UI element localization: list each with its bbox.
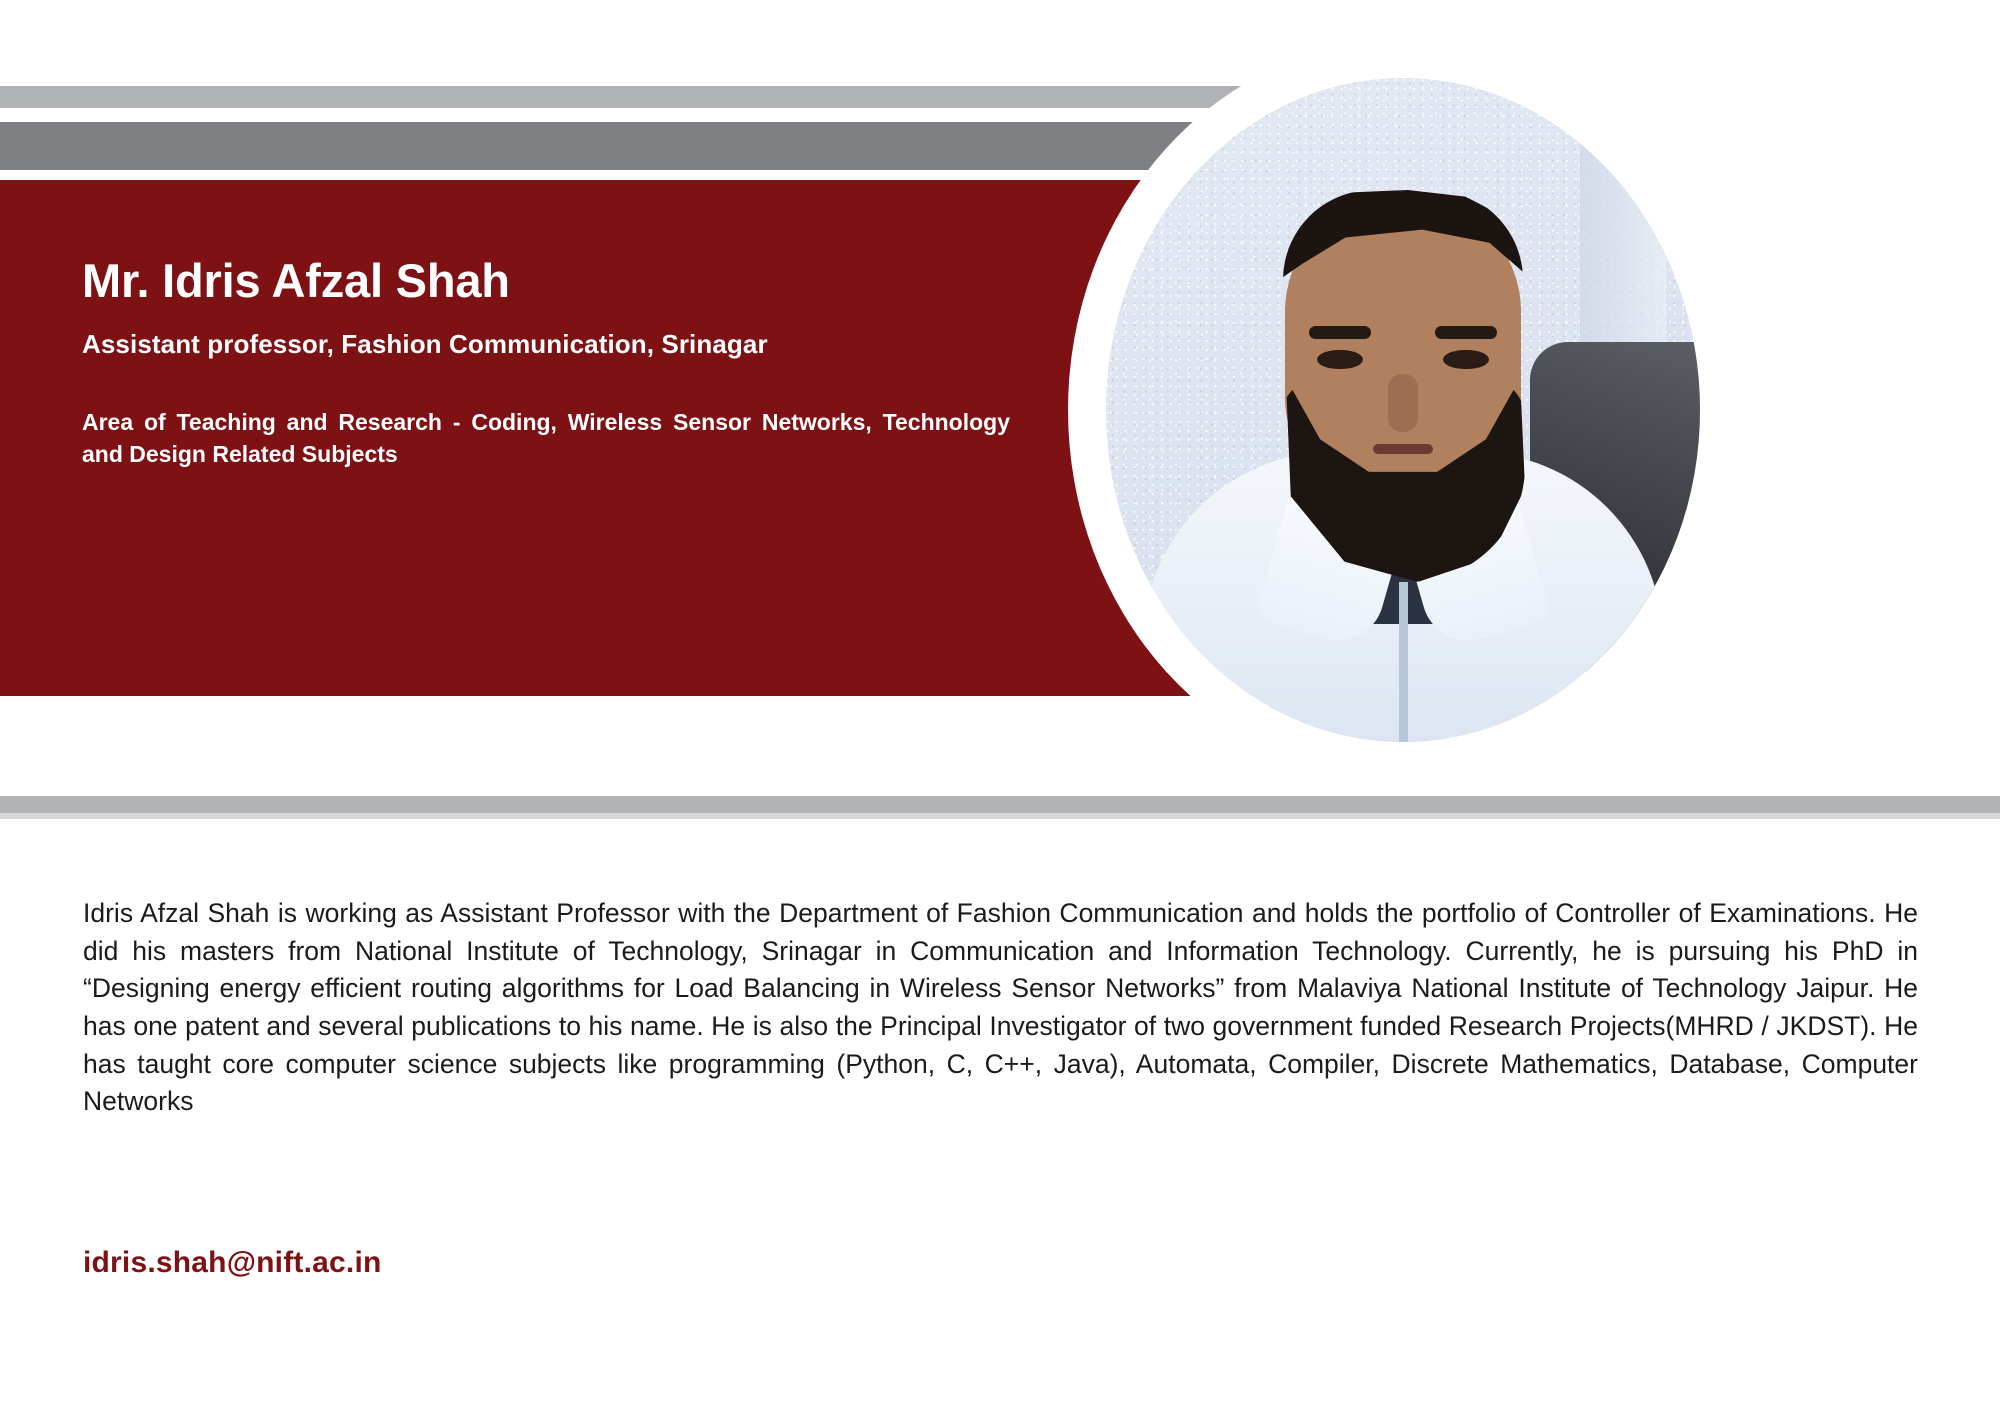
photo-shirt-placket (1399, 582, 1408, 742)
person-teaching-area: Area of Teaching and Research - Coding, … (82, 406, 1010, 471)
photo-nose (1388, 374, 1418, 432)
decorative-stripe-dark (0, 122, 1270, 170)
photo-eyebrow-right (1435, 326, 1497, 339)
section-divider-stripe (0, 796, 2000, 813)
photo-eyebrow-left (1309, 326, 1371, 339)
biography-paragraph: Idris Afzal Shah is working as Assistant… (83, 895, 1918, 1121)
photo-background-panel (1580, 78, 1666, 378)
decorative-stripe-light (0, 86, 1258, 108)
person-designation: Assistant professor, Fashion Communicati… (82, 329, 1022, 360)
hero-text-block: Mr. Idris Afzal Shah Assistant professor… (82, 255, 1022, 471)
portrait-photo (1106, 78, 1700, 742)
photo-eye-right (1443, 350, 1489, 369)
photo-mouth (1373, 444, 1433, 454)
page-title: Mr. Idris Afzal Shah (82, 255, 1022, 307)
email-link[interactable]: idris.shah@nift.ac.in (83, 1246, 382, 1280)
photo-eye-left (1317, 350, 1363, 369)
avatar (1068, 40, 1738, 780)
faculty-profile-card: Mr. Idris Afzal Shah Assistant professor… (0, 0, 2000, 1414)
section-divider-shadow (0, 813, 2000, 819)
